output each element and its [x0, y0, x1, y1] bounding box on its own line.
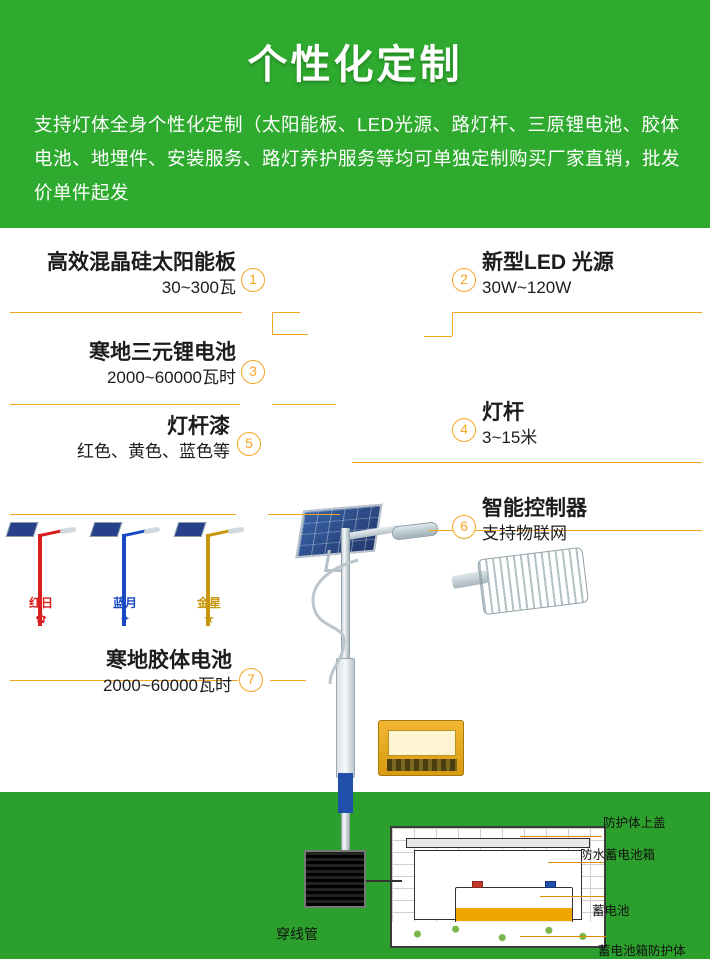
pole-sample-1-lamp	[144, 527, 161, 535]
callout-1-wire-h2	[272, 334, 308, 335]
pole-sample-0-panel	[6, 522, 39, 537]
callout-6-text: 智能控制器 支持物联网	[482, 496, 587, 546]
callout-4-title: 灯杆	[482, 400, 537, 426]
battery-vault	[390, 826, 606, 948]
callout-3-title: 寒地三元锂电池	[8, 340, 236, 366]
callout-1-wire-lead	[272, 312, 300, 313]
page-subtitle: 支持灯体全身个性化定制（太阳能板、LED光源、路灯杆、三原锂电池、胶体电池、地埋…	[0, 90, 710, 210]
callout-4-wire-h	[452, 462, 702, 463]
callout-6-spec: 支持物联网	[482, 522, 587, 546]
pole-sample-1-name: 蓝月	[88, 594, 162, 611]
callout-2-title: 新型LED 光源	[482, 250, 614, 276]
callout-5-title: 灯杆漆	[8, 414, 230, 440]
callout-7-title: 寒地胶体电池	[8, 648, 232, 674]
vault-lid	[406, 838, 590, 848]
callout-4-spec: 3~15米	[482, 426, 537, 450]
callout-5-wire-lead	[268, 514, 340, 515]
page-title: 个性化定制	[0, 0, 710, 90]
pole-sample-0-mark: ✿	[4, 611, 78, 627]
callout-2-spec: 30W~120W	[482, 276, 614, 300]
battery-label-band	[456, 908, 572, 921]
pole-sample-0-name: 红日	[4, 594, 78, 611]
pole-sample-2: 金星 ★	[172, 516, 246, 626]
pole-sample-0: 红日 ✿	[4, 516, 78, 626]
pole-sample-0-lamp	[60, 527, 77, 535]
pole-sample-2-name: 金星	[172, 594, 246, 611]
vault-label-3: 蓄电池箱防护体	[598, 940, 686, 959]
battery-negative-terminal	[472, 881, 483, 888]
vault-cable	[366, 880, 402, 882]
callout-1-wire-h	[10, 312, 242, 313]
callout-1-spec: 30~300瓦	[8, 276, 236, 300]
callout-number-5: 5	[237, 432, 261, 456]
conduit-label: 穿线管	[276, 924, 318, 944]
callout-number-4: 4	[452, 418, 476, 442]
callout-2-wire-v	[452, 312, 453, 336]
callout-1-wire-v	[272, 312, 273, 334]
callout-6-wire-lead	[428, 530, 452, 531]
callout-4-text: 灯杆 3~15米	[482, 400, 537, 450]
vault-label-1: 防水蓄电池箱	[580, 844, 655, 863]
callout-6-title: 智能控制器	[482, 496, 587, 522]
pole-sample-2-panel	[174, 522, 207, 537]
callout-7-spec: 2000~60000瓦时	[8, 674, 232, 698]
callout-number-6: 6	[452, 515, 476, 539]
pole-sample-1-panel	[90, 522, 123, 537]
cable-illustration	[300, 558, 370, 688]
callout-5-text: 灯杆漆 红色、黄色、蓝色等	[8, 414, 230, 464]
controller-terminals	[387, 759, 457, 771]
callout-1-title: 高效混晶硅太阳能板	[8, 250, 236, 276]
vault-ground-cover	[392, 922, 604, 946]
vault-line-3	[540, 896, 604, 897]
vault-label-2: 蓄电池	[592, 900, 630, 919]
vault-label-0: 防护体上盖	[603, 812, 666, 831]
pole-sample-1: 蓝月 ✦	[88, 516, 162, 626]
callout-number-7: 7	[239, 668, 263, 692]
callout-3-wire-h	[10, 404, 240, 405]
callout-3-spec: 2000~60000瓦时	[8, 366, 236, 390]
callout-number-2: 2	[452, 268, 476, 292]
waterproof-battery-box	[414, 850, 582, 920]
vault-line-4	[520, 936, 606, 937]
led-lamp-photo	[477, 547, 589, 616]
pole-battery-blue-section	[338, 773, 353, 813]
wire-conduit	[304, 850, 366, 908]
callout-2-wire-lead	[424, 336, 452, 337]
battery-positive-terminal	[545, 881, 556, 888]
pole-sample-2-lamp	[228, 527, 245, 535]
product-diagram: 防护体上盖 防水蓄电池箱 蓄电池 蓄电池箱防护体 穿线管 1 高效混晶硅太阳能板…	[0, 228, 710, 792]
callout-2-wire-h	[452, 312, 702, 313]
controller-screen	[388, 730, 456, 756]
solar-charge-controller	[378, 720, 464, 776]
callout-5-spec: 红色、黄色、蓝色等	[8, 440, 230, 464]
callout-2-text: 新型LED 光源 30W~120W	[482, 250, 614, 300]
callout-1-text: 高效混晶硅太阳能板 30~300瓦	[8, 250, 236, 300]
callout-3-text: 寒地三元锂电池 2000~60000瓦时	[8, 340, 236, 390]
callout-7-wire-lead	[270, 680, 306, 681]
page-root: 个性化定制 支持灯体全身个性化定制（太阳能板、LED光源、路灯杆、三原锂电池、胶…	[0, 0, 710, 792]
callout-number-3: 3	[241, 360, 265, 384]
pole-sample-1-mark: ✦	[88, 611, 162, 627]
pole-sample-2-mark: ★	[172, 611, 246, 627]
callout-number-1: 1	[241, 268, 265, 292]
callout-4-wire-lead	[352, 462, 452, 463]
vault-line-1	[520, 836, 602, 837]
callout-7-text: 寒地胶体电池 2000~60000瓦时	[8, 648, 232, 698]
callout-3-wire-lead	[272, 404, 336, 405]
